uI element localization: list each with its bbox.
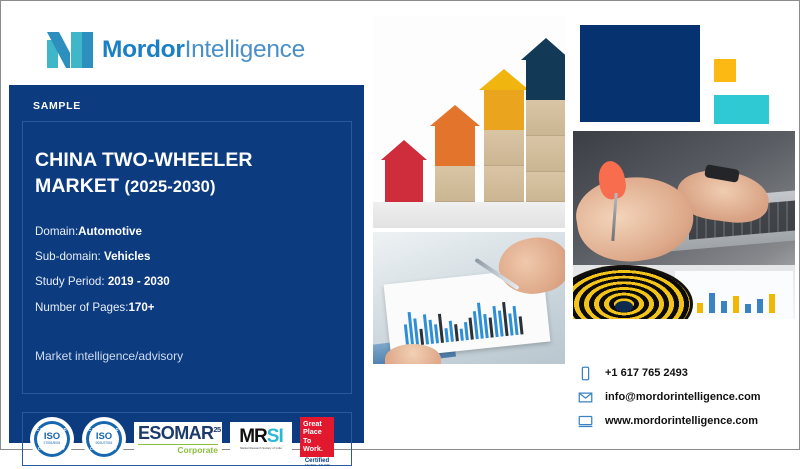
amber-square-shape <box>714 59 736 82</box>
navy-square-shape <box>580 25 700 122</box>
mordor-m-logo-icon <box>47 32 93 68</box>
iso-arc-bottom-label: COMPANY <box>34 446 70 451</box>
contact-phone[interactable]: +1 617 765 2493 <box>578 366 761 381</box>
dart-photo-report-paper <box>675 271 793 319</box>
gptw-certified-text: Certified <box>305 458 329 464</box>
brand-wordmark: MordorIntelligence <box>102 38 305 63</box>
iso2-word-label: ISO <box>96 432 112 442</box>
iso-arc-top-label: CERTIFIED <box>34 427 70 432</box>
block-body-3 <box>484 90 524 130</box>
meta-value-domain: Automotive <box>78 225 142 238</box>
block-house-4 <box>521 38 565 202</box>
brand-logo: MordorIntelligence <box>47 32 305 68</box>
meta-label-domain: Domain: <box>35 225 78 238</box>
brand-name-light: Intelligence <box>185 36 305 63</box>
contact-phone-text: +1 617 765 2493 <box>605 368 688 379</box>
block-body-2 <box>435 126 475 166</box>
report-cover-page: MordorIntelligence SAMPLE CHINA TWO-WHEE… <box>0 0 800 450</box>
meta-row-domain: Domain:Automotive <box>35 226 345 238</box>
mrsi-word-a: MR <box>239 426 267 447</box>
meta-label-pages: Number of Pages: <box>35 301 128 314</box>
contact-email[interactable]: info@mordorintelligence.com <box>578 390 761 405</box>
esomar-sup: 25 <box>213 425 220 434</box>
iso-certified-company-badge: CERTIFIED ISO 27001/9001 COMPANY <box>30 417 74 461</box>
esomar-wordmark: ESOMAR25 <box>138 424 218 442</box>
mrsi-badge: MRSI Market Research Society of India <box>230 422 292 456</box>
block-wood-2-1 <box>435 166 475 202</box>
photo-floor <box>373 202 565 228</box>
iso-certified-company-badge-2: CERTIFIED ISO 9001/27001 COMPANY <box>82 417 126 461</box>
block-roof-4 <box>521 38 565 60</box>
contact-email-text: info@mordorintelligence.com <box>605 392 761 403</box>
hand-pointing-pen-at-bar-chart-photo <box>373 232 565 364</box>
cyan-rectangle-shape <box>714 95 769 124</box>
meta-value-subdomain: Vehicles <box>104 250 150 263</box>
mail-icon <box>578 390 593 405</box>
page-title: CHINA TWO-WHEELER MARKET (2025-2030) <box>35 147 335 199</box>
contact-website[interactable]: www.mordorintelligence.com <box>578 414 761 429</box>
iso2-arc-bottom-label: COMPANY <box>86 446 122 451</box>
iso2-arc-top-label: CERTIFIED <box>86 427 122 432</box>
brand-name-bold: Mordor <box>102 36 185 63</box>
contact-website-text: www.mordorintelligence.com <box>605 416 758 427</box>
block-wood-4-1 <box>526 100 565 136</box>
great-place-to-work-badge: Great Place To Work. Certified JUN 2024 … <box>300 417 334 461</box>
report-details-box: CHINA TWO-WHEELER MARKET (2025-2030) Dom… <box>22 121 352 394</box>
report-metadata: Domain:Automotive Sub-domain: Vehicles S… <box>35 226 345 314</box>
geometric-shapes-tile <box>573 16 795 124</box>
sample-label: SAMPLE <box>33 100 81 112</box>
esomar-badge: ESOMAR25 Corporate <box>134 422 222 456</box>
dart-on-target-with-laptop-photo <box>573 131 795 319</box>
monitor-icon <box>578 414 593 429</box>
wooden-block-houses-growth-photo <box>373 16 565 228</box>
mrsi-wordmark: MRSI <box>239 427 283 446</box>
meta-row-study-period: Study Period: 2019 - 2030 <box>35 276 345 288</box>
block-wood-4-2 <box>526 136 565 172</box>
meta-label-subdomain: Sub-domain: <box>35 250 101 263</box>
iso-word-label: ISO <box>44 432 60 442</box>
block-wood-3-2 <box>484 166 524 202</box>
meta-value-pages: 170+ <box>128 301 154 314</box>
block-body-1 <box>385 160 423 202</box>
gptw-certified-label: Certified JUN 2024 - JUN 2025 <box>300 457 334 469</box>
block-roof-1 <box>381 140 427 160</box>
block-house-1 <box>381 140 427 202</box>
certification-badges: CERTIFIED ISO 27001/9001 COMPANY CERTIFI… <box>22 412 352 466</box>
block-wood-4-3 <box>526 172 565 202</box>
block-roof-2 <box>430 105 480 126</box>
contact-list: +1 617 765 2493 info@mordorintelligence.… <box>578 366 761 429</box>
mrsi-word-b: SI <box>267 426 283 447</box>
advisory-tagline: Market intelligence/advisory <box>35 349 183 363</box>
esomar-word: ESOMAR <box>138 423 213 443</box>
phone-icon <box>578 366 593 381</box>
block-wood-3-1 <box>484 130 524 166</box>
report-title-years: (2025-2030) <box>125 178 216 196</box>
gptw-period-text: JUN 2024 - JUN 2025 <box>300 465 334 468</box>
meta-label-study-period: Study Period: <box>35 275 105 288</box>
report-info-panel: SAMPLE CHINA TWO-WHEELER MARKET (2025-20… <box>9 85 364 443</box>
meta-row-subdomain: Sub-domain: Vehicles <box>35 251 345 263</box>
block-body-4 <box>526 60 565 100</box>
block-house-2 <box>430 105 480 202</box>
meta-row-pages: Number of Pages:170+ <box>35 302 345 314</box>
gptw-slogan: Great Place To Work. <box>300 417 334 457</box>
meta-value-study-period: 2019 - 2030 <box>108 275 170 288</box>
